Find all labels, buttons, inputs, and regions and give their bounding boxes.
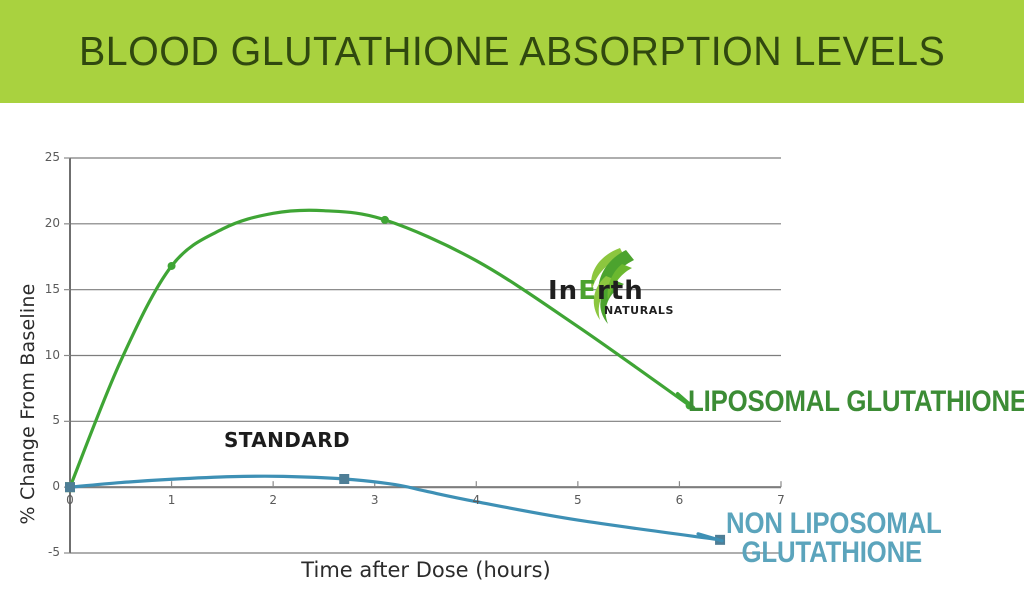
- x-axis-title: Time after Dose (hours): [70, 558, 782, 582]
- legend-label-non-liposomal: NON LIPOSOMALGLUTATHIONE: [726, 509, 942, 568]
- x-tick-label-2: 2: [263, 493, 283, 507]
- chart-page: BLOOD GLUTATHIONE ABSORPTION LEVELS % Ch…: [0, 0, 1024, 598]
- x-tick-label-3: 3: [365, 493, 385, 507]
- legend-line-2: GLUTATHIONE: [726, 538, 942, 567]
- logo-text-rth: rth: [597, 276, 644, 306]
- y-tick-label-15: 15: [34, 282, 60, 296]
- y-axis-title: % Change From Baseline: [17, 224, 39, 584]
- logo-text-e: E: [578, 276, 597, 306]
- x-tick-label-5: 5: [568, 493, 588, 507]
- x-tick-label-7: 7: [771, 493, 791, 507]
- y-tick-label-20: 20: [34, 216, 60, 230]
- header-band: BLOOD GLUTATHIONE ABSORPTION LEVELS: [0, 0, 1024, 103]
- y-tick-label-5: 5: [34, 413, 60, 427]
- legend-line-1: NON LIPOSOMAL: [726, 507, 942, 540]
- logo-subtitle: NATURALS: [604, 304, 674, 317]
- x-tick-label-4: 4: [466, 493, 486, 507]
- marker-0-2: [381, 216, 389, 224]
- legend-label-liposomal: LIPOSOMAL GLUTATHIONE: [688, 385, 1024, 419]
- x-tick-label-6: 6: [669, 493, 689, 507]
- y-tick-label-10: 10: [34, 348, 60, 362]
- series-line-1: [70, 476, 720, 540]
- standard-annotation: STANDARD: [224, 428, 350, 452]
- marker-1-1: [339, 474, 349, 484]
- x-tick-label-1: 1: [162, 493, 182, 507]
- page-title: BLOOD GLUTATHIONE ABSORPTION LEVELS: [79, 28, 945, 75]
- y-tick-label--5: -5: [34, 545, 60, 559]
- logo-wordmark: InErth: [548, 276, 644, 306]
- y-tick-label-0: 0: [34, 479, 60, 493]
- y-tick-label-25: 25: [34, 150, 60, 164]
- x-tick-label-0: 0: [60, 493, 80, 507]
- marker-1-0: [65, 482, 75, 492]
- logo-text-in: In: [548, 276, 578, 306]
- brand-logo: InErth NATURALS: [548, 246, 678, 328]
- marker-0-1: [168, 262, 176, 270]
- chart-container: % Change From Baseline Time after Dose (…: [0, 103, 1024, 598]
